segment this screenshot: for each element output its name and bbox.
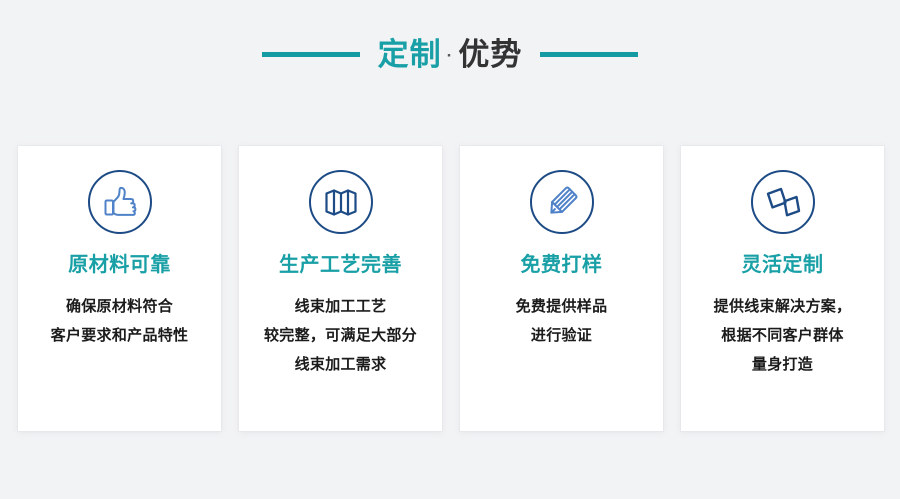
decorative-rule-right-icon [540, 52, 638, 57]
page-title-secondary: 优势 [458, 39, 522, 70]
feature-card[interactable]: 灵活定制 提供线束解决方案， 根据不同客户群体 量身打造 [681, 146, 884, 431]
feature-card-body: 提供线束解决方案， 根据不同客户群体 量身打造 [687, 292, 879, 379]
feature-card-list: 原材料可靠 确保原材料符合 客户要求和产品特性 生产工艺完善 [18, 146, 887, 431]
feature-card-body-line: 根据不同客户群体 [687, 321, 879, 350]
stacked-cards-icon [750, 169, 816, 235]
page-title-primary: 定制 [378, 39, 442, 70]
feature-card-body-line: 免费提供样品 [466, 292, 658, 321]
folded-map-icon [308, 169, 374, 235]
decorative-rule-left-icon [262, 52, 360, 57]
feature-card-body-line: 量身打造 [687, 350, 879, 379]
feature-card-body: 免费提供样品 进行验证 [466, 292, 658, 350]
feature-card[interactable]: 原材料可靠 确保原材料符合 客户要求和产品特性 [18, 146, 221, 431]
feature-card-body-line: 线束加工需求 [245, 350, 437, 379]
feature-card-body-line: 线束加工工艺 [245, 292, 437, 321]
thumbs-up-icon [87, 169, 153, 235]
feature-card-body-line: 较完整，可满足大部分 [245, 321, 437, 350]
feature-card-title: 生产工艺完善 [279, 254, 402, 276]
feature-card-title: 免费打样 [521, 254, 603, 276]
feature-card-body: 确保原材料符合 客户要求和产品特性 [24, 292, 216, 350]
feature-card-title: 灵活定制 [742, 254, 824, 276]
feature-card[interactable]: 生产工艺完善 线束加工工艺 较完整，可满足大部分 线束加工需求 [239, 146, 442, 431]
feature-card-title: 原材料可靠 [68, 254, 171, 276]
page-root: 定制 · 优势 原材料可靠 确保原材料符合 客户要求和产品特性 [0, 0, 900, 499]
pencil-icon [529, 169, 595, 235]
feature-card-body-line: 客户要求和产品特性 [24, 321, 216, 350]
feature-card[interactable]: 免费打样 免费提供样品 进行验证 [460, 146, 663, 431]
page-title: 定制 · 优势 [378, 39, 523, 70]
feature-card-body-line: 确保原材料符合 [24, 292, 216, 321]
page-title-separator: · [447, 47, 454, 64]
feature-card-body-line: 提供线束解决方案， [687, 292, 879, 321]
feature-card-body-line: 进行验证 [466, 321, 658, 350]
feature-card-body: 线束加工工艺 较完整，可满足大部分 线束加工需求 [245, 292, 437, 379]
section-header: 定制 · 优势 [0, 26, 900, 82]
